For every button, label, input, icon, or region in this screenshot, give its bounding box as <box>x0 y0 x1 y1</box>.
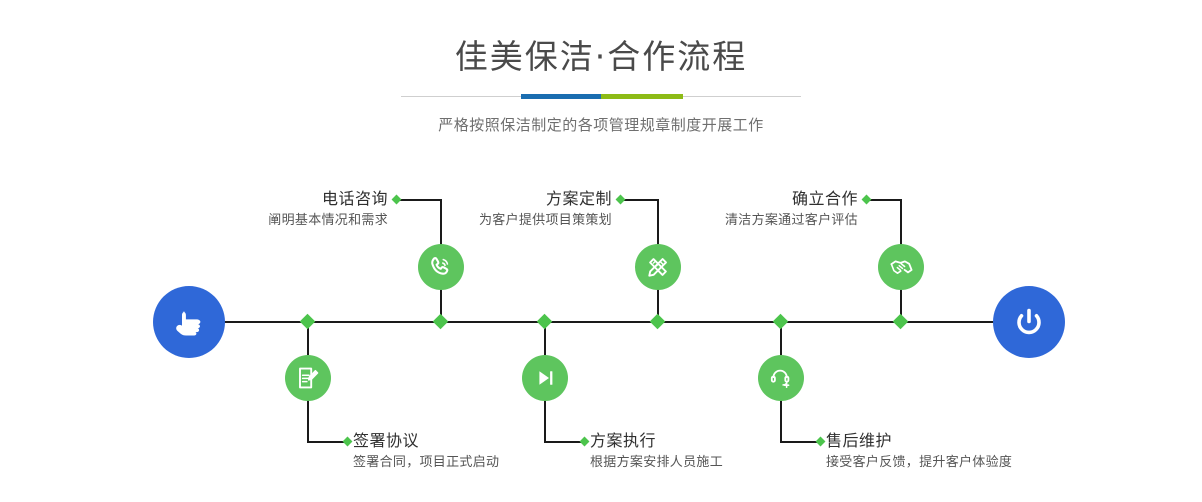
step-desc-6: 接受客户反馈，提升客户体验度 <box>826 452 1106 473</box>
flowchart-page: 佳美保洁·合作流程 严格按照保洁制定的各项管理规章制度开展工作 <box>0 0 1202 502</box>
step-title-5: 确立合作 <box>625 188 858 210</box>
step-icon-3 <box>635 244 681 290</box>
timeline-node-1 <box>433 314 449 330</box>
timeline-end-endpoint <box>993 286 1065 358</box>
step-icon-4 <box>522 355 568 401</box>
step-label-4: 方案执行 根据方案安排人员施工 <box>590 430 850 473</box>
step-desc-2: 签署合同，项目正式启动 <box>353 452 613 473</box>
document-sign-icon <box>295 365 321 391</box>
step-label-5: 确立合作 清洁方案通过客户评估 <box>625 188 858 231</box>
pencil-ruler-icon <box>645 254 671 280</box>
timeline-node-4 <box>537 314 553 330</box>
step-label-6: 售后维护 接受客户反馈，提升客户体验度 <box>826 430 1106 473</box>
process-timeline: 电话咨询 阐明基本情况和需求 签署协议 签署合同，项目正式启动 <box>0 0 1202 502</box>
phone-call-icon <box>428 254 454 280</box>
step-label-1: 电话咨询 阐明基本情况和需求 <box>152 188 388 231</box>
step-title-3: 方案定制 <box>380 188 612 210</box>
step-icon-5 <box>878 244 924 290</box>
customer-support-icon <box>768 365 794 391</box>
step-desc-4: 根据方案安排人员施工 <box>590 452 850 473</box>
timeline-start-endpoint <box>153 286 225 358</box>
step-connector-v-2 <box>307 400 309 442</box>
step-icon-1 <box>418 244 464 290</box>
step-icon-2 <box>285 355 331 401</box>
step-connector-v-5 <box>900 199 902 245</box>
step-desc-5: 清洁方案通过客户评估 <box>625 210 858 231</box>
timeline-node-6 <box>773 314 789 330</box>
handshake-icon <box>888 254 915 281</box>
step-label-2: 签署协议 签署合同，项目正式启动 <box>353 430 613 473</box>
step-tip-2 <box>343 437 353 447</box>
timeline-node-5 <box>893 314 909 330</box>
step-tip-3 <box>616 195 626 205</box>
pointing-hand-icon <box>169 302 209 342</box>
step-connector-h-2 <box>307 441 347 443</box>
step-title-2: 签署协议 <box>353 430 613 452</box>
step-desc-3: 为客户提供项目策策划 <box>380 210 612 231</box>
play-skip-icon <box>533 366 557 390</box>
step-label-3: 方案定制 为客户提供项目策策划 <box>380 188 612 231</box>
power-button-icon <box>1009 302 1049 342</box>
step-title-1: 电话咨询 <box>152 188 388 210</box>
step-connector-h-5 <box>868 199 901 201</box>
timeline-node-2 <box>300 314 316 330</box>
step-tip-5 <box>862 195 872 205</box>
step-title-4: 方案执行 <box>590 430 850 452</box>
step-title-6: 售后维护 <box>826 430 1106 452</box>
step-desc-1: 阐明基本情况和需求 <box>152 210 388 231</box>
step-icon-6 <box>758 355 804 401</box>
timeline-node-3 <box>650 314 666 330</box>
